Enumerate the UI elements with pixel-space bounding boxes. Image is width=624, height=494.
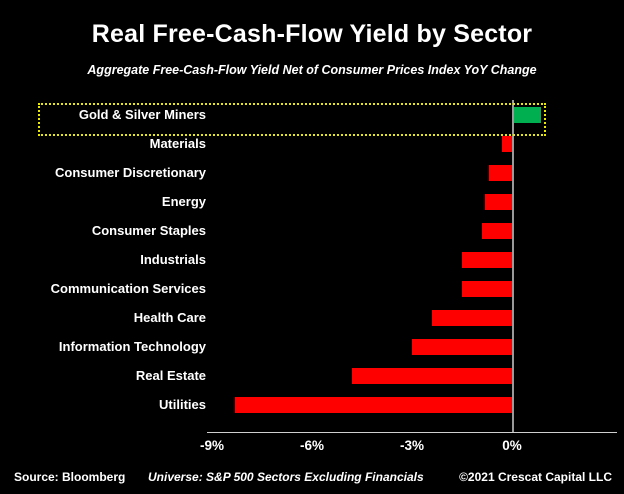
bar-utilities (235, 397, 512, 413)
chart-container: Real Free-Cash-Flow Yield by Sector Aggr… (0, 0, 624, 494)
zero-axis-line (512, 100, 514, 432)
bar-communication-services (462, 281, 512, 297)
bar-information-technology (412, 339, 512, 355)
bar-row-communication-services: Communication Services (0, 274, 624, 303)
bar-row-consumer-staples: Consumer Staples (0, 216, 624, 245)
bar-row-utilities: Utilities (0, 390, 624, 419)
category-label-real-estate: Real Estate (0, 361, 206, 390)
bar-row-real-estate: Real Estate (0, 361, 624, 390)
footer-copyright: ©2021 Crescat Capital LLC (459, 470, 612, 484)
category-label-utilities: Utilities (0, 390, 206, 419)
bar-row-health-care: Health Care (0, 303, 624, 332)
category-label-consumer-staples: Consumer Staples (0, 216, 206, 245)
x-tick-label-6: -6% (277, 438, 347, 453)
bar-consumer-staples (482, 223, 512, 239)
category-label-industrials: Industrials (0, 245, 206, 274)
x-tick-label-3: -3% (377, 438, 447, 453)
footer-source: Source: Bloomberg (14, 470, 125, 484)
category-label-materials: Materials (0, 129, 206, 158)
bar-row-energy: Energy (0, 187, 624, 216)
bar-row-industrials: Industrials (0, 245, 624, 274)
bar-materials (502, 136, 512, 152)
chart-subtitle: Aggregate Free-Cash-Flow Yield Net of Co… (0, 63, 624, 77)
x-tick-label-9: -9% (177, 438, 247, 453)
plot-area: Gold & Silver MinersMaterialsConsumer Di… (0, 100, 624, 435)
bar-row-gold-and-silver-miners: Gold & Silver Miners (0, 100, 624, 129)
footer-universe: Universe: S&P 500 Sectors Excluding Fina… (148, 470, 424, 484)
category-label-gold-and-silver-miners: Gold & Silver Miners (0, 100, 206, 129)
x-tick-label-0: 0% (477, 438, 547, 453)
bar-row-information-technology: Information Technology (0, 332, 624, 361)
chart-footer: Source: Bloomberg Universe: S&P 500 Sect… (0, 470, 624, 492)
category-label-energy: Energy (0, 187, 206, 216)
category-label-information-technology: Information Technology (0, 332, 206, 361)
category-label-health-care: Health Care (0, 303, 206, 332)
bar-industrials (462, 252, 512, 268)
chart-title: Real Free-Cash-Flow Yield by Sector (0, 20, 624, 49)
x-axis-line (207, 432, 617, 433)
x-axis-tick-labels: -9%-6%-3%0% (0, 438, 624, 458)
category-label-consumer-discretionary: Consumer Discretionary (0, 158, 206, 187)
bar-health-care (432, 310, 512, 326)
category-label-communication-services: Communication Services (0, 274, 206, 303)
bar-consumer-discretionary (489, 165, 512, 181)
bar-gold-and-silver-miners (514, 107, 541, 123)
bar-energy (485, 194, 512, 210)
bar-real-estate (352, 368, 512, 384)
bar-row-materials: Materials (0, 129, 624, 158)
bar-row-consumer-discretionary: Consumer Discretionary (0, 158, 624, 187)
